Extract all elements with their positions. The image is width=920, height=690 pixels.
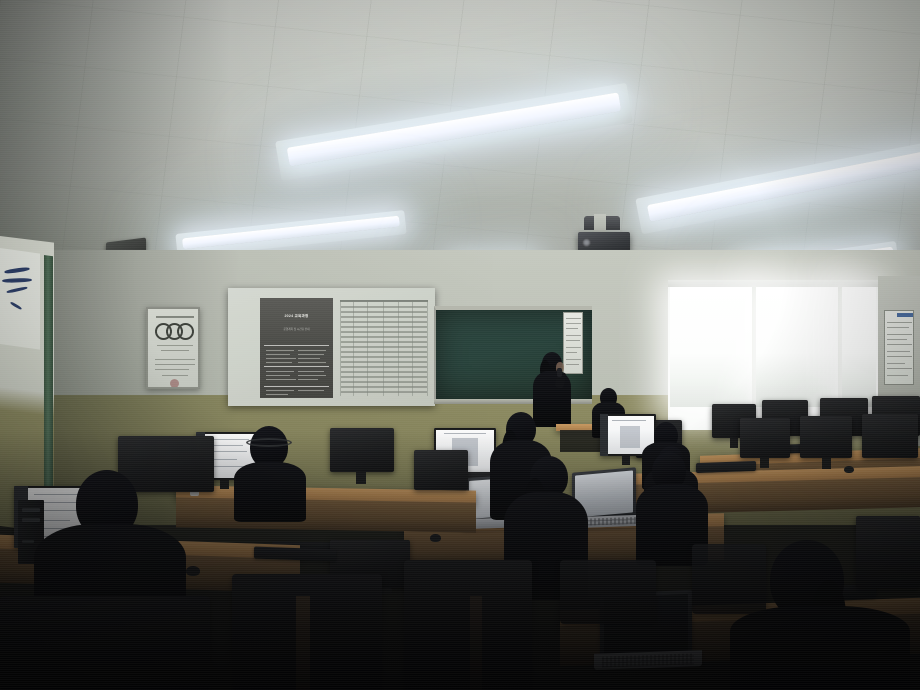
blind-rail <box>668 280 878 287</box>
monitor-back-row2a <box>330 428 394 472</box>
board-notice-sheet <box>563 312 583 374</box>
door-frame <box>44 255 53 506</box>
marker-stroke <box>4 267 30 275</box>
monitor-back-m3 <box>800 416 852 458</box>
microphone-icon <box>557 368 562 377</box>
marker-stroke <box>10 301 22 310</box>
headphones-icon <box>246 438 292 447</box>
desk-leg <box>470 596 482 690</box>
certificate-text-line <box>155 369 189 370</box>
certificate-text-line <box>155 359 195 360</box>
chair-right[interactable] <box>692 544 766 614</box>
desk-leg <box>296 596 310 690</box>
projection-screen: 2024 교육과정 운영계획 및 시간표 안내 <box>228 288 435 406</box>
chair-center-right[interactable] <box>560 560 656 624</box>
certificate-text-line <box>161 350 189 351</box>
mouse-row2b[interactable] <box>430 534 441 542</box>
mouse-front-left[interactable] <box>186 566 200 576</box>
slide-divider <box>264 366 329 367</box>
instructor-body <box>533 371 571 427</box>
student-mid-left-body <box>234 462 306 522</box>
three-rings-logo-icon <box>155 323 195 340</box>
monitor-stand <box>822 458 831 469</box>
monitor-stand <box>760 458 769 468</box>
slide-divider <box>264 386 329 387</box>
certificate-text-line <box>155 364 195 365</box>
slide-panel-title: 2024 교육과정 <box>268 314 325 319</box>
monitor-stand <box>356 472 366 484</box>
window-blind-far[interactable] <box>842 287 876 407</box>
projection-screen-surface: 2024 교육과정 운영계획 및 시간표 안내 <box>228 288 435 406</box>
slide-title-panel: 2024 교육과정 운영계획 및 시간표 안내 <box>260 298 333 398</box>
student-foreground-right-body <box>730 606 910 690</box>
notice-header-bar <box>897 313 913 317</box>
slide-divider <box>264 345 329 346</box>
window-blind-left[interactable] <box>670 287 752 407</box>
monitor-back-foreground-right <box>856 516 920 588</box>
certificate-header-rule <box>156 316 194 318</box>
monitor-back-m4 <box>862 414 918 458</box>
certificate-text-line <box>162 375 188 376</box>
desk-row2-left-front <box>176 497 476 532</box>
right-notice-board <box>884 310 914 385</box>
chair-center[interactable] <box>404 560 532 690</box>
framed-certificate <box>146 307 200 389</box>
monitor-back-m2 <box>740 418 790 458</box>
monitor-stand <box>730 438 738 448</box>
mouse-mid-right[interactable] <box>844 466 854 473</box>
monitor-stand <box>622 456 630 465</box>
monitor-back-row2b <box>414 450 468 490</box>
whiteboard <box>0 248 40 350</box>
slide-schedule-table <box>340 298 428 398</box>
keyboard-mid-right[interactable] <box>696 461 756 473</box>
window-blind-right[interactable] <box>756 287 838 407</box>
slide-panel-subtitle: 운영계획 및 시간표 안내 <box>268 328 325 332</box>
projector-lens-icon <box>582 238 591 247</box>
certificate-text-line <box>157 345 193 346</box>
chair-front-left[interactable] <box>0 596 210 690</box>
certificate-seal-icon <box>170 379 179 388</box>
marker-stroke <box>6 286 28 294</box>
classroom-photo: 2024 교육과정 운영계획 및 시간표 안내 <box>0 0 920 690</box>
monitor-stand <box>220 480 229 489</box>
marker-stroke <box>2 278 32 283</box>
